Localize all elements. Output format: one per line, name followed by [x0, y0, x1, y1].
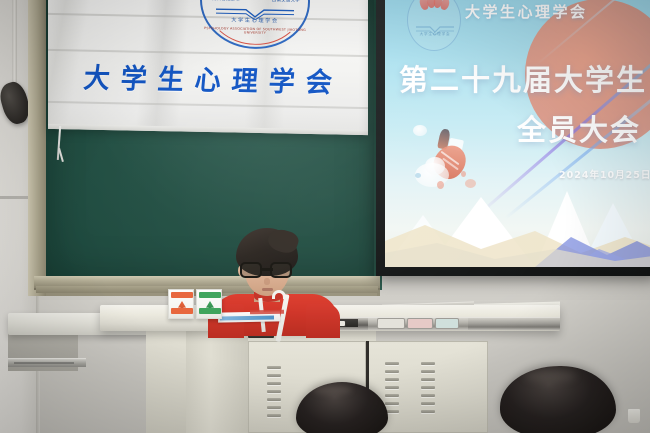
box-footer-band — [171, 308, 193, 314]
screen-logo-subtitle: 大学生心理学会 — [408, 32, 462, 37]
glasses-lens-left — [240, 262, 262, 278]
panel-module[interactable] — [436, 319, 458, 328]
eyeglasses-icon — [240, 262, 294, 278]
presenter-nose — [264, 278, 270, 285]
cloud-puff — [425, 157, 445, 175]
product-box-green[interactable] — [196, 289, 222, 319]
speaker-mount-stem — [12, 0, 17, 86]
heart-hands-icon — [420, 0, 448, 16]
small-balloon-dot — [437, 181, 444, 189]
hot-air-balloon-graphic — [419, 123, 485, 193]
panel-module[interactable] — [408, 319, 432, 328]
chalkboard-left-frame — [28, 0, 46, 296]
equipment-drawer-rail[interactable] — [468, 317, 560, 330]
screen-header-text: 大学生心理学会 — [465, 1, 588, 22]
banner-fold — [48, 101, 368, 109]
glasses-bridge — [261, 268, 273, 271]
presenter-shoulder-right — [306, 304, 340, 338]
box-footer-band — [199, 308, 221, 314]
podium-left-slide-rail — [8, 358, 86, 367]
emblem-text-right: 西南交通大学 — [272, 0, 300, 4]
podium-column — [186, 331, 248, 433]
desk-cup — [628, 409, 640, 423]
logo-wave-icon — [416, 20, 454, 30]
cloud-puff — [413, 125, 427, 136]
box-header-band — [199, 292, 221, 298]
society-banner: 四川省成都市 西南交通大学 大学生心理学会 PSYCHOLOGY ASSOCIA… — [48, 0, 368, 135]
photo-scene: 四川省成都市 西南交通大学 大学生心理学会 PSYCHOLOGY ASSOCIA… — [0, 0, 650, 433]
society-emblem-icon: 四川省成都市 西南交通大学 大学生心理学会 PSYCHOLOGY ASSOCIA… — [200, 0, 310, 54]
screen-title-line2: 全员大会 — [517, 107, 641, 149]
screen-title-line1: 第二十九届大学生 — [399, 57, 647, 99]
projection-screen: 大学生心理学会 大学生心理学会 第二十九届大学生 全员大会 2024年10月25… — [385, 0, 650, 267]
panel-module[interactable] — [378, 319, 404, 328]
small-balloon-dot — [415, 173, 421, 178]
screen-society-logo-icon: 大学生心理学会 — [407, 0, 461, 51]
presenter — [214, 228, 334, 318]
screen-date-text: 2024年10月25日 — [559, 167, 650, 181]
cloud-puff — [465, 179, 476, 188]
box-header-band — [171, 292, 193, 298]
product-box-orange[interactable] — [168, 289, 194, 319]
glasses-lens-right — [270, 262, 292, 278]
presenter-mouth — [262, 288, 273, 291]
banner-title: 大学生心理学会 — [46, 56, 369, 101]
paper-red-sheet — [250, 310, 284, 315]
small-balloon-dot — [461, 171, 466, 177]
screen-bezel: 大学生心理学会 大学生心理学会 第二十九届大学生 全员大会 2024年10月25… — [376, 0, 650, 276]
